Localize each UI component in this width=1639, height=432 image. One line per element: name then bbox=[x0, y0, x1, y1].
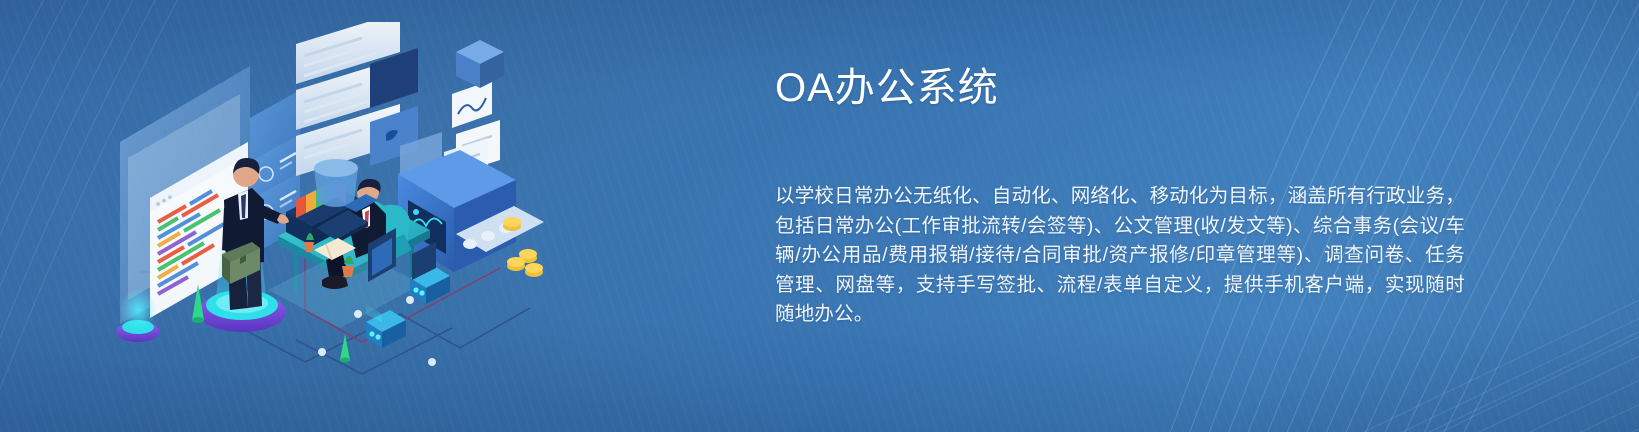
oa-system-banner: OA办公系统 以学校日常办公无纸化、自动化、网络化、移动化为目标，涵盖所有行政业… bbox=[0, 0, 1639, 432]
isometric-office-illustration bbox=[100, 22, 550, 382]
server-node-cube bbox=[456, 40, 504, 88]
banner-text-column: OA办公系统 以学校日常办公无纸化、自动化、网络化、移动化为目标，涵盖所有行政业… bbox=[775, 64, 1465, 330]
page-title: OA办公系统 bbox=[775, 64, 1465, 112]
banner-description: 以学校日常办公无纸化、自动化、网络化、移动化为目标，涵盖所有行政业务，包括日常办… bbox=[775, 112, 1465, 330]
floating-document-cards bbox=[296, 22, 442, 186]
